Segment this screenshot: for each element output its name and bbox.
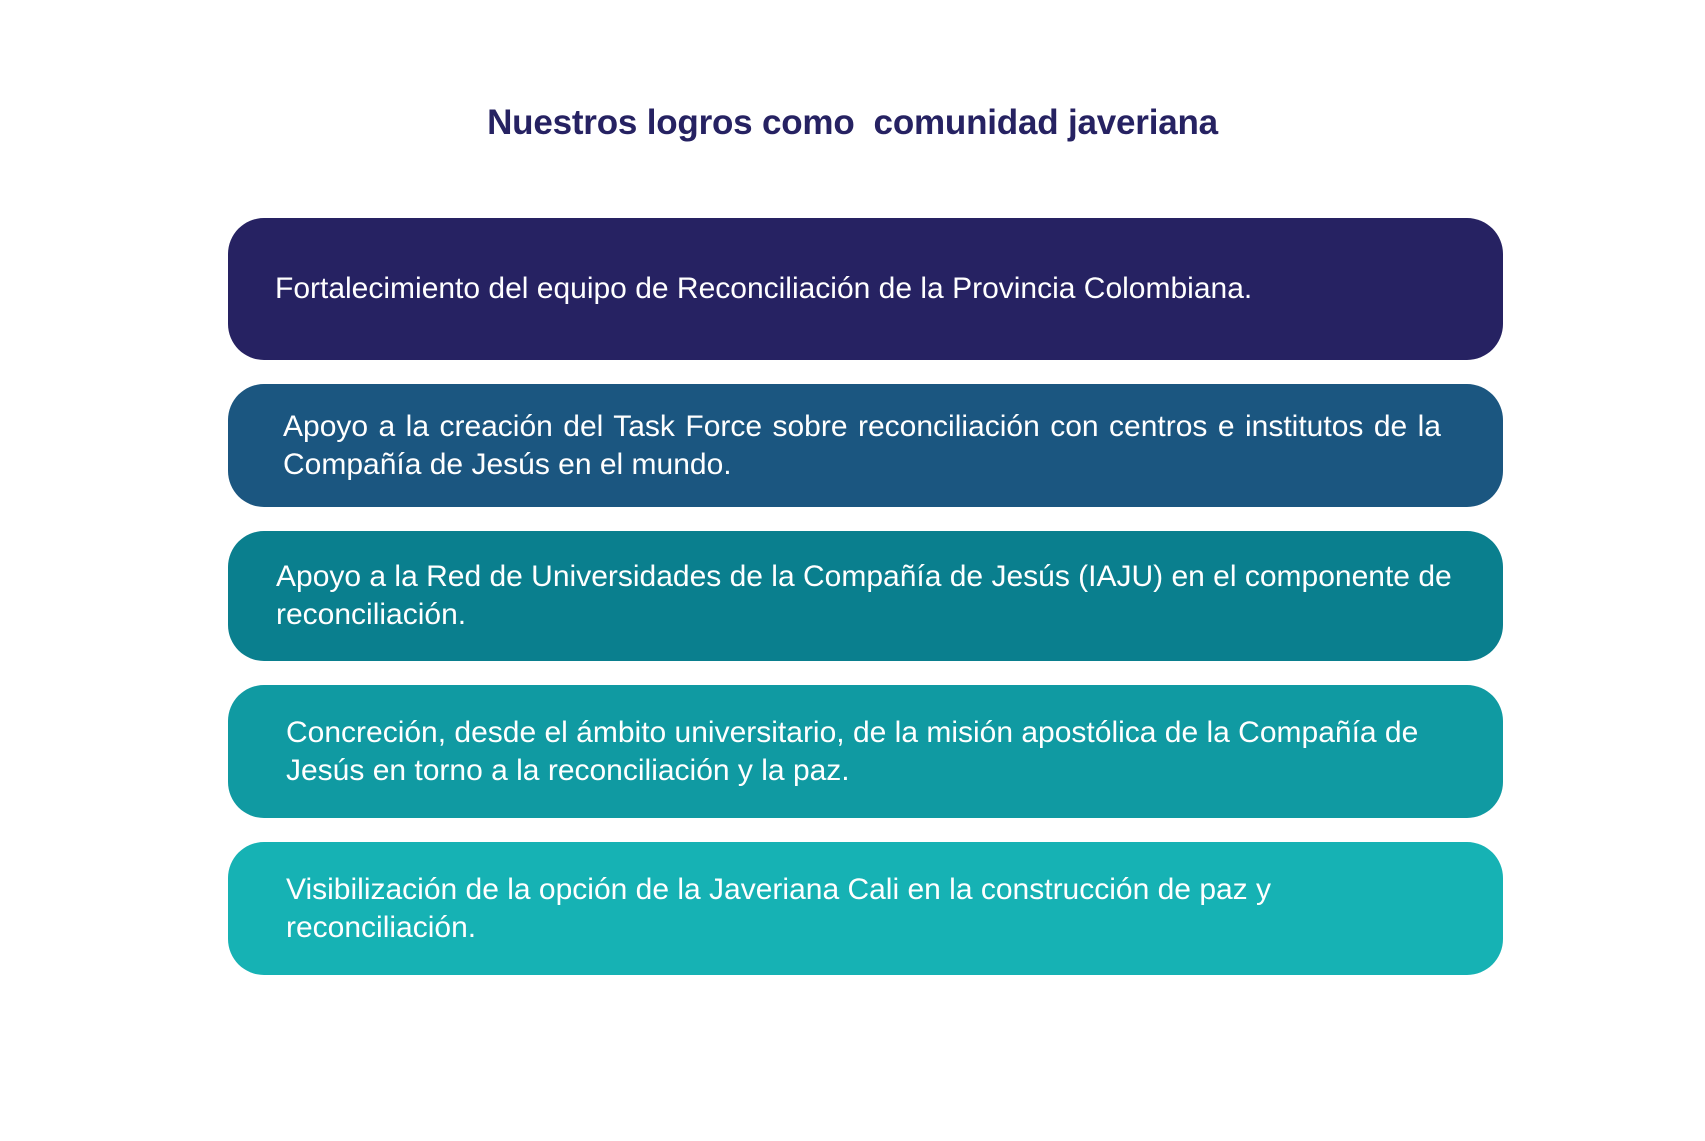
slide-canvas: Nuestros logros como comunidad javeriana… [0,0,1705,1141]
achievement-text: Apoyo a la creación del Task Force sobre… [283,408,1441,484]
list-item: Concreción, desde el ámbito universitari… [228,685,1503,818]
achievement-text: Fortalecimiento del equipo de Reconcilia… [275,270,1445,308]
achievements-list: Fortalecimiento del equipo de Reconcilia… [228,218,1503,975]
achievement-text: Apoyo a la Red de Universidades de la Co… [276,558,1463,634]
page-title: Nuestros logros como comunidad javeriana [0,103,1705,143]
achievement-text: Visibilización de la opción de la Javeri… [286,871,1467,947]
list-item: Fortalecimiento del equipo de Reconcilia… [228,218,1503,360]
list-item: Visibilización de la opción de la Javeri… [228,842,1503,975]
list-item: Apoyo a la Red de Universidades de la Co… [228,531,1503,661]
list-item: Apoyo a la creación del Task Force sobre… [228,384,1503,507]
achievement-text: Concreción, desde el ámbito universitari… [286,714,1467,790]
